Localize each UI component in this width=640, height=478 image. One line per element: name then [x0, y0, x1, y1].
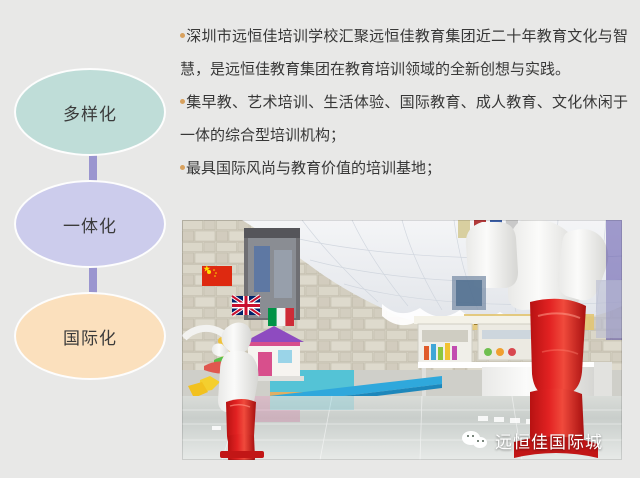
slide-canvas: 多样化 一体化 国际化 深圳市远恒佳培训学校汇聚远恒佳教育集团近二十年教育文化与…: [0, 0, 640, 478]
interior-photo: 远恒佳国际城: [182, 220, 622, 460]
flow-node-label: 一体化: [63, 212, 117, 237]
flow-node-label: 国际化: [63, 324, 117, 349]
bullet-icon: [180, 99, 185, 104]
bullet-icon: [180, 33, 185, 38]
wechat-icon: [462, 431, 488, 451]
body-copy: 深圳市远恒佳培训学校汇聚远恒佳教育集团近二十年教育文化与智慧，是远恒佳教育集团在…: [180, 20, 628, 185]
copy-paragraph-text: 最具国际风尚与教育价值的培训基地；: [186, 159, 441, 177]
copy-paragraph-3: 最具国际风尚与教育价值的培训基地；: [180, 152, 628, 185]
wechat-account-name: 远恒佳国际城: [495, 428, 603, 453]
flow-diagram: 多样化 一体化 国际化: [0, 62, 180, 392]
flow-node-diversification: 多样化: [14, 68, 166, 156]
copy-paragraph-text: 集早教、艺术培训、生活体验、国际教育、成人教育、文化休闲于一体的综合型培训机构；: [180, 93, 628, 144]
bullet-icon: [180, 165, 185, 170]
copy-paragraph-2: 集早教、艺术培训、生活体验、国际教育、成人教育、文化休闲于一体的综合型培训机构；: [180, 86, 628, 152]
copy-paragraph-text: 深圳市远恒佳培训学校汇聚远恒佳教育集团近二十年教育文化与智慧，是远恒佳教育集团在…: [180, 27, 628, 78]
flow-node-internationalization: 国际化: [14, 292, 166, 380]
flow-node-label: 多样化: [63, 100, 117, 125]
flag-uk: [232, 296, 260, 315]
flow-node-integration: 一体化: [14, 180, 166, 268]
interior-photo-artwork: [182, 220, 622, 460]
flag-china: [202, 265, 232, 286]
flag-italy: [268, 308, 294, 326]
wechat-watermark: 远恒佳国际城: [462, 428, 603, 453]
copy-paragraph-1: 深圳市远恒佳培训学校汇聚远恒佳教育集团近二十年教育文化与智慧，是远恒佳教育集团在…: [180, 20, 628, 86]
